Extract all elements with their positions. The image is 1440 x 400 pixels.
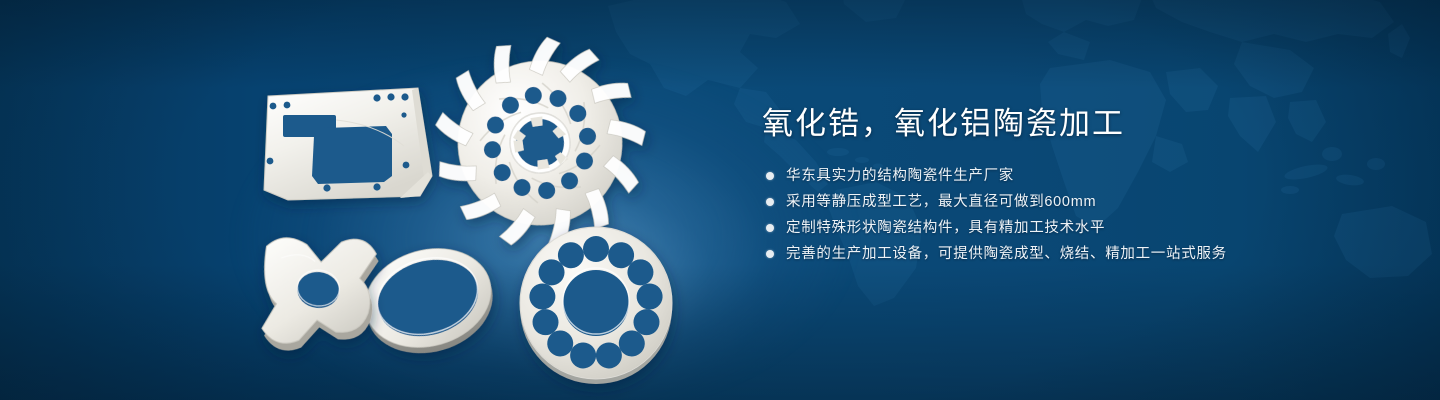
banner-copy: 氧化锆，氧化铝陶瓷加工 华东具实力的结构陶瓷件生产厂家 采用等静压成型工艺，最大… [762,104,1382,267]
ceramic-mounting-plate [264,88,432,200]
ceramic-cross-vane [256,230,381,359]
feature-text: 华东具实力的结构陶瓷件生产厂家 [786,163,1014,189]
page-title: 氧化锆，氧化铝陶瓷加工 [762,104,1382,144]
feature-text: 完善的生产加工设备，可提供陶瓷成型、烧结、精加工一站式服务 [786,241,1227,267]
product-photo-group [0,0,720,400]
list-item: 定制特殊形状陶瓷结构件，具有精加工技术水平 [766,215,1382,241]
feature-list: 华东具实力的结构陶瓷件生产厂家 采用等静压成型工艺，最大直径可做到600mm 定… [766,163,1382,267]
list-item: 华东具实力的结构陶瓷件生产厂家 [766,163,1382,189]
bullet-dot-icon [766,224,774,232]
feature-text: 采用等静压成型工艺，最大直径可做到600mm [786,189,1096,215]
promo-banner: 氧化锆，氧化铝陶瓷加工 华东具实力的结构陶瓷件生产厂家 采用等静压成型工艺，最大… [0,0,1440,400]
feature-text: 定制特殊形状陶瓷结构件，具有精加工技术水平 [786,215,1105,241]
bullet-dot-icon [766,198,774,206]
ceramic-impeller-disc [416,21,665,269]
bullet-dot-icon [766,250,774,258]
ceramic-perforated-ring [520,227,672,384]
list-item: 完善的生产加工设备，可提供陶瓷成型、烧结、精加工一站式服务 [766,241,1382,267]
bullet-dot-icon [766,172,774,180]
list-item: 采用等静压成型工艺，最大直径可做到600mm [766,189,1382,215]
